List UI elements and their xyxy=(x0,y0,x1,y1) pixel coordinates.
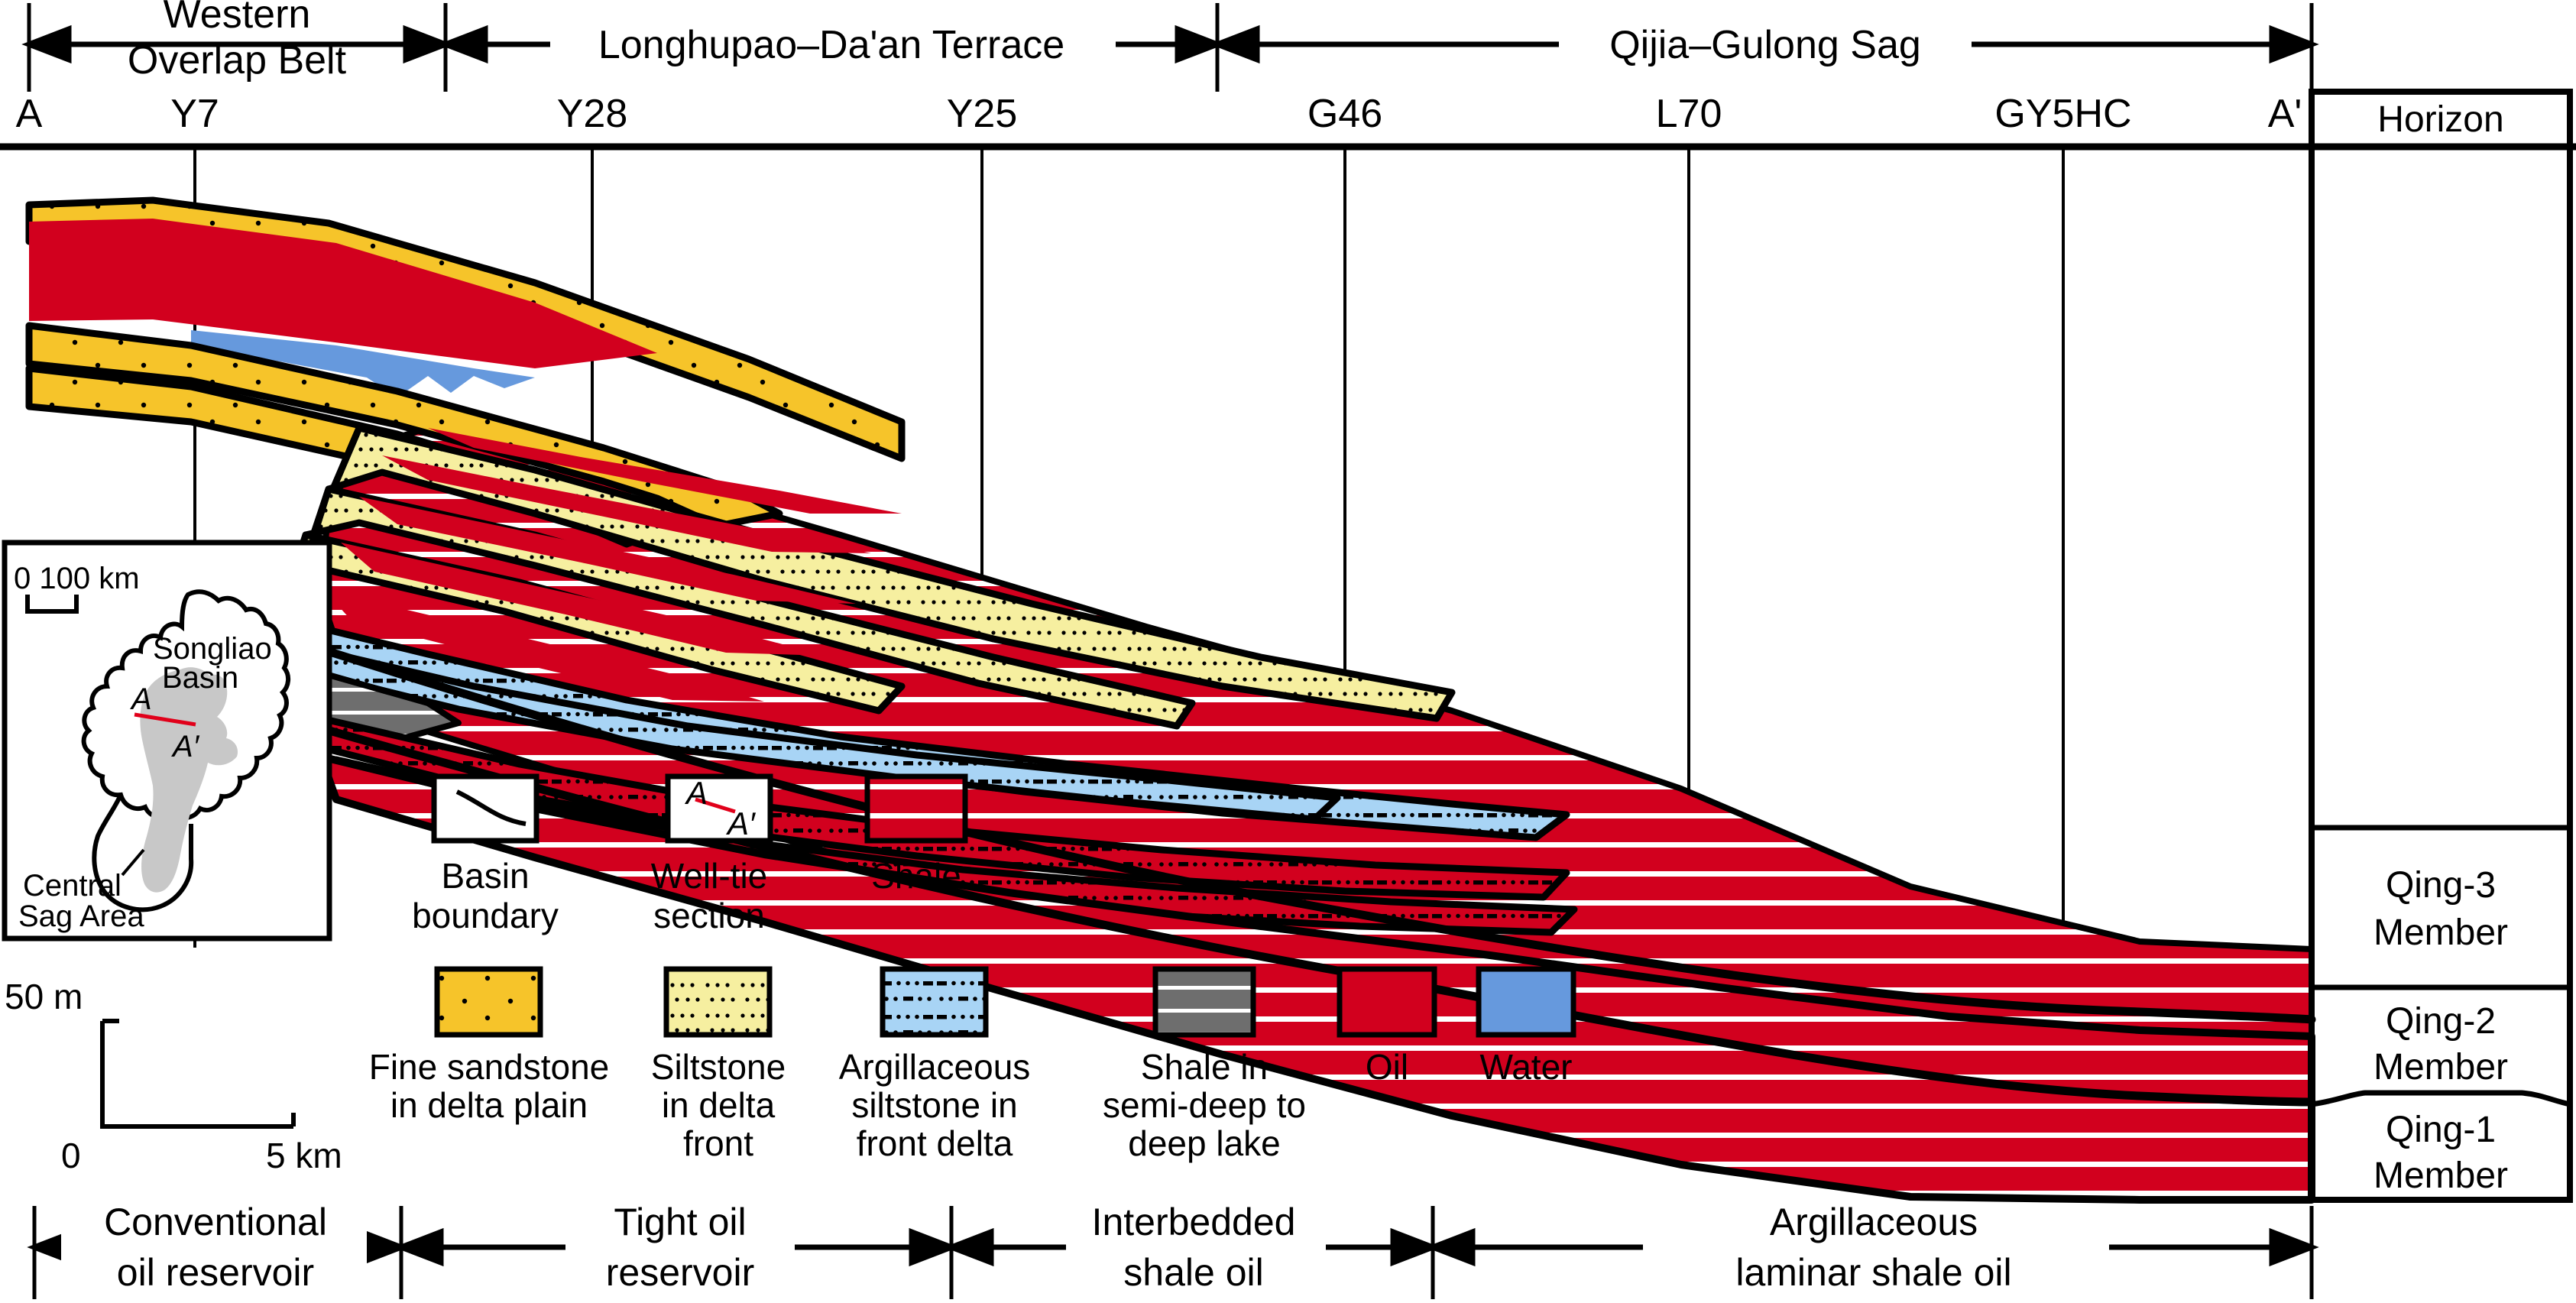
zone-label-line1: Conventional xyxy=(104,1201,327,1243)
legend-label-line1: Water xyxy=(1480,1047,1573,1087)
tectonic-label-line2: Overlap Belt xyxy=(128,38,347,83)
reservoir-zone-footer: Conventional oil reservoir Tight oil res… xyxy=(34,1201,2312,1299)
horizon-panel: Horizon Qing-3 Member Qing-2 Member Qing… xyxy=(2312,92,2570,1200)
qing2-line2: Member xyxy=(2373,1047,2508,1087)
well-label-Aprime: A' xyxy=(2268,92,2302,136)
tectonic-label-line1: Qijia–Gulong Sag xyxy=(1609,23,1921,67)
qing1-line2: Member xyxy=(2373,1156,2508,1196)
legend-label-line1: Oil xyxy=(1366,1047,1408,1087)
well-label-Y28: Y28 xyxy=(557,92,628,136)
legend-label-line1: Argillaceous xyxy=(839,1047,1031,1087)
legend-label-line3: deep lake xyxy=(1128,1123,1281,1163)
cross-section-figure: Western Overlap Belt Longhupao–Da'an Ter… xyxy=(0,0,2576,1303)
legend-label-line2: in delta xyxy=(662,1085,776,1125)
sag-label-line2: Sag Area xyxy=(18,899,144,933)
qing2-line1: Qing-2 xyxy=(2386,1001,2496,1042)
legend-label-line1: Fine sandstone xyxy=(369,1047,610,1087)
zone-label-line1: Tight oil xyxy=(614,1201,746,1243)
legend-marker-aprime: A′ xyxy=(725,805,757,841)
section-marker-a: A xyxy=(130,682,152,716)
horizon-member-qing2: Qing-2 Member xyxy=(2373,1001,2508,1087)
well-labels: A Y7 Y28 Y25 G46 L70 GY5HC A' xyxy=(16,92,2302,136)
tectonic-label-line1: Longhupao–Da'an Terrace xyxy=(598,23,1064,67)
reservoir-zone-label-3: Argillaceous laminar shale oil xyxy=(1643,1201,2109,1294)
scale-bar: 50 m 0 5 km xyxy=(5,977,342,1175)
zone-label-line2: shale oil xyxy=(1123,1251,1263,1294)
horizon-member-qing1: Qing-1 Member xyxy=(2373,1110,2508,1196)
legend-label-line1: Well-tie xyxy=(651,856,768,896)
legend-label-line1: Shale in xyxy=(1141,1047,1268,1087)
scale-horizontal-label: 5 km xyxy=(266,1136,342,1175)
legend-item-fine-sandstone: Fine sandstone in delta plain xyxy=(369,969,610,1125)
well-label-G46: G46 xyxy=(1307,92,1382,136)
sag-label-line1: Central xyxy=(23,869,122,903)
legend-item-water: Water xyxy=(1479,969,1573,1087)
well-label-Y7: Y7 xyxy=(170,92,219,136)
inset-scale-label: 0 100 km xyxy=(14,562,140,595)
inset-map: 0 100 km Songliao Basin A A′ Central Sag… xyxy=(5,543,329,938)
qing3-line2: Member xyxy=(2373,912,2508,953)
tectonic-unit-label-2: Qijia–Gulong Sag xyxy=(1559,18,1972,67)
zone-label-line2: reservoir xyxy=(606,1251,754,1294)
section-marker-aprime: A′ xyxy=(171,730,200,763)
reservoir-zone-label-0: Conventional oil reservoir xyxy=(61,1201,367,1294)
basin-label-line2: Basin xyxy=(162,661,238,695)
legend-label-line2: semi-deep to xyxy=(1103,1085,1306,1125)
zone-label-line1: Argillaceous xyxy=(1770,1201,1978,1243)
well-label-L70: L70 xyxy=(1656,92,1722,136)
tectonic-unit-label-1: Longhupao–Da'an Terrace xyxy=(550,18,1116,67)
legend-label-line1: Siltstone xyxy=(651,1047,786,1087)
legend-item-argillaceous-siltstone: Argillaceous siltstone in front delta xyxy=(839,969,1031,1163)
reservoir-zone-label-1: Tight oil reservoir xyxy=(565,1201,795,1294)
legend-marker-a: A xyxy=(684,775,708,811)
well-label-Y25: Y25 xyxy=(947,92,1018,136)
legend-item-siltstone: Siltstone in delta front xyxy=(651,969,786,1163)
tectonic-division-header: Western Overlap Belt Longhupao–Da'an Ter… xyxy=(29,0,2312,92)
zone-label-line1: Interbedded xyxy=(1092,1201,1296,1243)
horizon-member-qing3: Qing-3 Member xyxy=(2373,865,2508,953)
legend-label-line3: front xyxy=(683,1123,753,1163)
zone-label-line2: oil reservoir xyxy=(117,1251,314,1294)
legend-label-line2: siltstone in xyxy=(851,1085,1017,1125)
tectonic-label-line1: Western xyxy=(164,0,311,37)
qing1-line1: Qing-1 xyxy=(2386,1110,2496,1150)
legend-label-line2: boundary xyxy=(412,896,559,935)
qing3-line1: Qing-3 xyxy=(2386,865,2496,906)
scale-vertical-label: 50 m xyxy=(5,977,83,1016)
horizon-panel-header: Horizon xyxy=(2377,99,2503,140)
scale-zero-label: 0 xyxy=(61,1136,81,1175)
reservoir-zone-label-2: Interbedded shale oil xyxy=(1066,1201,1326,1294)
legend-label-line2: section xyxy=(653,896,765,935)
legend-label-line1: Shale xyxy=(871,856,961,896)
legend-label-line1: Basin xyxy=(441,856,529,896)
legend-label-line2: in delta plain xyxy=(390,1085,588,1125)
legend-row-2: Fine sandstone in delta plain Siltstone … xyxy=(369,969,1573,1163)
tectonic-unit-label-0: Western Overlap Belt xyxy=(128,0,347,83)
well-label-A: A xyxy=(16,92,43,136)
legend-label-line3: front delta xyxy=(857,1123,1013,1163)
zone-label-line2: laminar shale oil xyxy=(1735,1251,2011,1294)
legend-item-shale: Shale xyxy=(867,776,965,896)
well-label-GY5HC: GY5HC xyxy=(1994,92,2131,136)
